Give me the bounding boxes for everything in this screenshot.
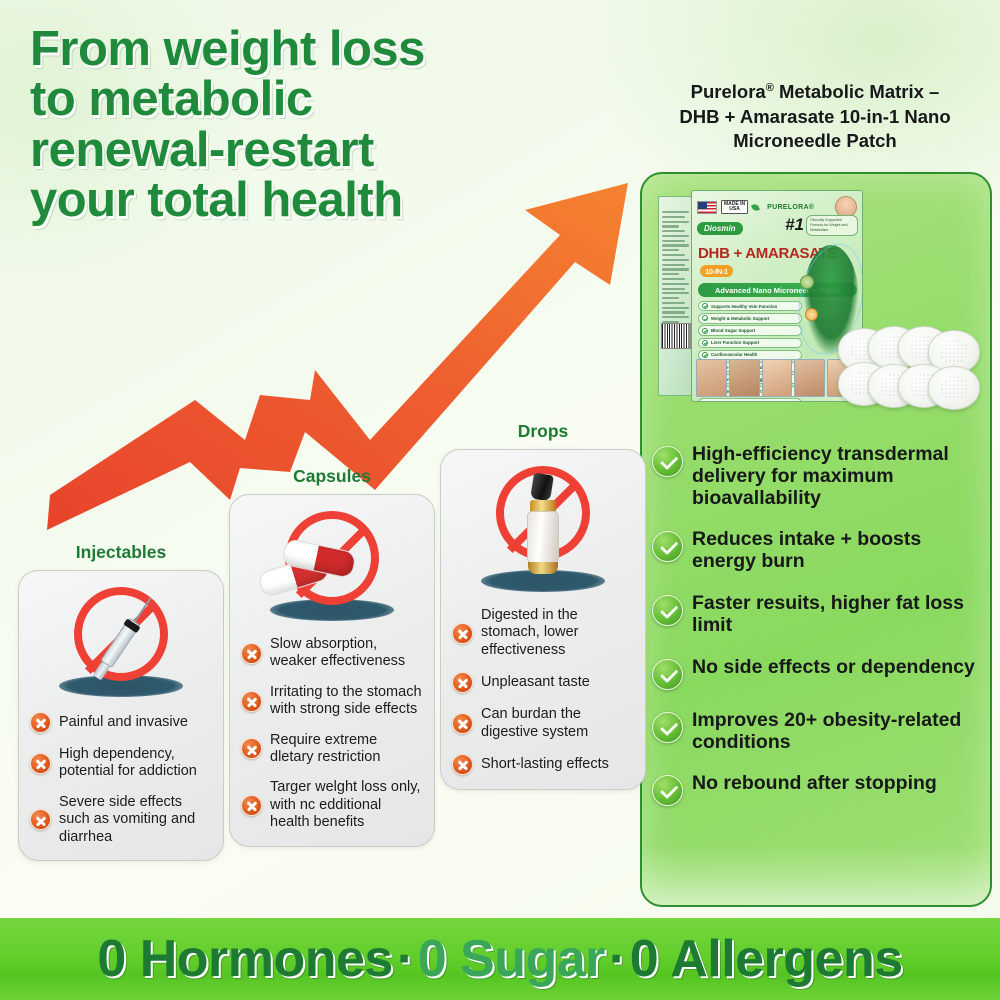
headline-line-3: renewal-restart: [30, 125, 550, 175]
box-benefit-item: Liver Function Support: [698, 338, 802, 348]
benefit-text: Reduces intake + boosts energy burn: [692, 529, 982, 573]
drawback-text: Painful and invasive: [59, 714, 188, 731]
footer-banner: 0 Hormones·0 Sugar·0 Allergens: [0, 918, 1000, 1000]
check-circle-icon: [652, 775, 683, 806]
footer-claim-sugar: 0 Sugar: [418, 930, 605, 988]
dropper-bottle-icon: [521, 476, 565, 572]
comparison-card: Slow absorption, weaker effectiveness Ir…: [229, 494, 435, 847]
rank-badge: #1 Clinically Supported Formula for Weig…: [785, 215, 858, 236]
check-circle-icon: [652, 659, 683, 690]
product-title: Purelora® Metabolic Matrix – DHB + Amara…: [640, 80, 990, 154]
benefit-text: Improves 20+ obesity-related conditions: [692, 710, 982, 754]
box-brand-label: PURELORA®: [767, 204, 814, 211]
check-circle-icon: [652, 712, 683, 743]
product-box-image: MADE IN USA PURELORA® Diosmin #1 Clinica…: [658, 190, 863, 405]
check-circle-icon: [652, 595, 683, 626]
x-circle-icon: [452, 623, 473, 644]
drawback-text: Digested in the stomach, lower effective…: [481, 607, 634, 659]
us-flag-icon: [697, 201, 717, 214]
benefit-list: High-efficiency transdermal delivery for…: [652, 444, 982, 826]
drawback-text: Severe side effects such as vomiting and…: [59, 794, 212, 846]
benefit-item: Faster resuits, higher fat loss limit: [652, 593, 982, 637]
check-circle-icon: [652, 446, 683, 477]
patch-disc: [928, 366, 980, 410]
x-circle-icon: [30, 809, 51, 830]
column-title: Injectables: [18, 542, 224, 563]
rank-number: #1: [785, 215, 804, 235]
benefit-text: No side effects or dependency: [692, 657, 975, 679]
check-circle-icon: [652, 531, 683, 562]
x-circle-icon: [30, 753, 51, 774]
footer-separator: ·: [393, 930, 418, 988]
leaf-icon: [751, 203, 760, 212]
drawback-item: Digested in the stomach, lower effective…: [452, 607, 634, 659]
drawback-text: High dependency, potential for addiction: [59, 746, 212, 781]
count-badge: 10-IN-1: [700, 265, 733, 277]
drawback-item: Irritating to the stomach with strong si…: [241, 684, 423, 719]
benefit-item: Improves 20+ obesity-related conditions: [652, 710, 982, 754]
drawback-item: Short-lasting effects: [452, 754, 634, 775]
check-icon: [702, 352, 708, 358]
benefit-item: High-efficiency transdermal delivery for…: [652, 444, 982, 509]
box-benefit-item: Weight & Metabolic Support: [698, 313, 802, 323]
footer-separator: ·: [605, 930, 630, 988]
benefit-item: No side effects or dependency: [652, 657, 982, 690]
drops-image: [452, 460, 634, 594]
product-title-line3: Microneedle Patch: [733, 130, 896, 151]
drawback-item: Severe side effects such as vomiting and…: [30, 794, 212, 846]
comparison-column-injectables: Injectables Painful and invasive High de…: [18, 542, 224, 861]
check-icon: [702, 340, 708, 346]
microneedle-patch-discs: [838, 326, 986, 436]
x-circle-icon: [241, 738, 262, 759]
check-icon: [702, 303, 708, 309]
benefit-item: Reduces intake + boosts energy burn: [652, 529, 982, 573]
x-circle-icon: [452, 754, 473, 775]
column-title: Capsules: [229, 466, 435, 487]
result-photo-strip: [696, 359, 858, 397]
usa-label: USA: [729, 206, 740, 212]
box-benefit-item: Blood Sugar Support: [698, 325, 802, 335]
footer-claim-allergens: 0 Allergens: [630, 930, 903, 988]
drawback-text: Can burdan the digestive system: [481, 706, 634, 741]
drawback-item: Can burdan the digestive system: [452, 706, 634, 741]
registered-mark-icon: ®: [766, 82, 774, 94]
footer-claim-hormones: 0 Hormones: [97, 930, 393, 988]
ingredient-badge: Diosmin: [697, 222, 743, 235]
check-icon: [702, 315, 708, 321]
drawback-text: Slow absorption, weaker effectiveness: [270, 636, 423, 671]
drawback-item: Targer welght loss only, with nc edditio…: [241, 779, 423, 831]
drawback-item: Slow absorption, weaker effectiveness: [241, 636, 423, 671]
drawback-item: Unpleasant taste: [452, 672, 634, 693]
seal-icon-2: [805, 308, 818, 321]
product-title-line2: DHB + Amarasate 10-in-1 Nano: [679, 106, 950, 127]
page-title: From weight loss to metabolic renewal-re…: [30, 24, 550, 226]
x-circle-icon: [452, 713, 473, 734]
x-circle-icon: [241, 795, 262, 816]
product-title-brand: Purelora: [691, 81, 766, 102]
seal-icon-1: [800, 275, 814, 289]
comparison-card: Painful and invasive High dependency, po…: [18, 570, 224, 861]
benefit-text: High-efficiency transdermal delivery for…: [692, 444, 982, 509]
drawback-text: Short-lasting effects: [481, 756, 609, 773]
rank-note: Clinically Supported Formula for Weight …: [806, 215, 858, 236]
comparison-column-capsules: Capsules Slow absorption, weaker effecti…: [229, 466, 435, 847]
made-in-usa-badge: MADE IN USA: [721, 200, 748, 215]
x-circle-icon: [241, 691, 262, 712]
comparison-column-drops: Drops Digested in the stomach, lower eff…: [440, 421, 646, 790]
headline-line-1: From weight loss: [30, 24, 550, 74]
product-title-line1: Metabolic Matrix –: [774, 81, 940, 102]
drawback-text: Targer welght loss only, with nc edditio…: [270, 779, 423, 831]
benefit-text: No rebound after stopping: [692, 773, 937, 795]
benefit-text: Faster resuits, higher fat loss limit: [692, 593, 982, 637]
drawback-text: Unpleasant taste: [481, 674, 590, 691]
box-side-panel: [658, 196, 692, 396]
box-benefit-item: Supports Healthy Vein Function: [698, 301, 802, 311]
drawback-text: Require extreme dletary restriction: [270, 732, 423, 767]
check-icon: [702, 401, 708, 402]
barcode-icon: [661, 323, 691, 349]
column-title: Drops: [440, 421, 646, 442]
capsules-image: [241, 505, 423, 623]
drawback-item: Require extreme dletary restriction: [241, 732, 423, 767]
drawback-item: Painful and invasive: [30, 712, 212, 733]
box-benefit-item: Supports lymphatic health: [698, 398, 802, 402]
footer-claims: 0 Hormones·0 Sugar·0 Allergens: [97, 929, 902, 989]
headline-line-2: to metabolic: [30, 74, 550, 124]
x-circle-icon: [452, 672, 473, 693]
check-icon: [702, 328, 708, 334]
benefit-item: No rebound after stopping: [652, 773, 982, 806]
headline-line-4: your total health: [30, 175, 550, 225]
x-circle-icon: [241, 643, 262, 664]
x-circle-icon: [30, 712, 51, 733]
comparison-card: Digested in the stomach, lower effective…: [440, 449, 646, 790]
drawback-text: Irritating to the stomach with strong si…: [270, 684, 423, 719]
drawback-item: High dependency, potential for addiction: [30, 746, 212, 781]
injectable-image: [30, 581, 212, 699]
product-highlight-panel: MADE IN USA PURELORA® Diosmin #1 Clinica…: [640, 172, 992, 907]
